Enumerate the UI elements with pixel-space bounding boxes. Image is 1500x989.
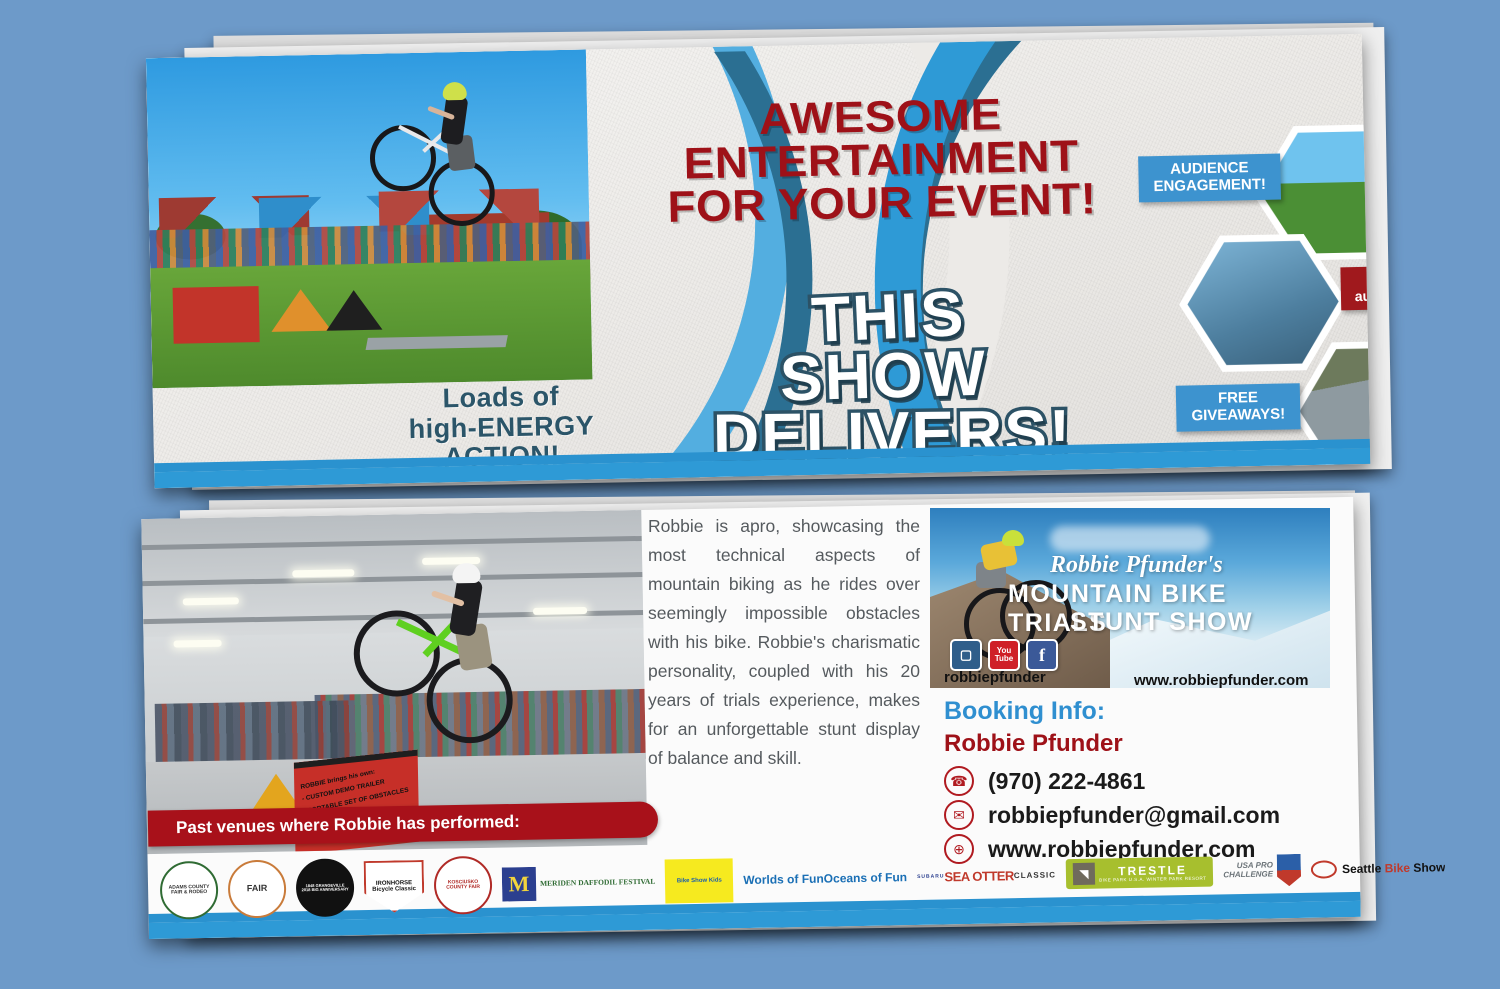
logo-meriden-daffodil-festival: M MERIDEN DAFFODIL FESTIVAL — [502, 865, 656, 902]
usa-pro-line-2: CHALLENGE — [1223, 870, 1273, 880]
logo-trestle-bike-park: ◥ TRESTLE BIKE PARK U.S.A. WINTER PARK R… — [1066, 857, 1214, 890]
booking-email: robbiepfunder@gmail.com — [988, 802, 1280, 829]
trestle-mark-icon: ◥ — [1073, 863, 1095, 885]
banner-script-name: Robbie Pfunder's — [1050, 552, 1223, 579]
social-icons[interactable]: ▢ YouTube f — [950, 639, 1058, 671]
logo-anniversary: 1848 GRANGEVILLE 2018 BIG ANNIVERSARY — [296, 858, 355, 917]
logo-sea-otter-classic: SUBARU SEA OTTER CLASSIC — [917, 867, 1056, 885]
facebook-icon[interactable]: f — [1026, 639, 1058, 671]
tagline-line-2: high-ENERGY — [381, 411, 622, 445]
email-icon: ✉ — [944, 800, 974, 830]
headline-line-3: FOR YOUR EVENT! — [637, 177, 1127, 230]
banner-website-url: www.robbiepfunder.com — [1134, 672, 1308, 689]
badge-meet-greet: Meet n' greet autograph session — [1340, 264, 1370, 310]
phone-icon: ☎ — [944, 766, 974, 796]
top-card-stack: AWESOME ENTERTAINMENT FOR YOUR EVENT! TH… — [124, 11, 1399, 496]
show-label: Show — [1410, 860, 1446, 875]
badge-free-giveaways: FREE GIVEAWAYS! — [1176, 383, 1301, 431]
subaru-label: SUBARU — [917, 873, 944, 880]
top-card-front: AWESOME ENTERTAINMENT FOR YOUR EVENT! TH… — [146, 34, 1370, 488]
logo-worlds-of-fun: Worlds of Fun Oceans of Fun — [743, 871, 907, 887]
bike-wheel-icon — [1311, 860, 1337, 878]
badge-audience-engagement: AUDIENCE ENGAGEMENT! — [1138, 154, 1281, 202]
youtube-icon[interactable]: YouTube — [988, 639, 1020, 671]
seattle-label: Seattle — [1342, 861, 1385, 876]
sea-otter-label: SEA OTTER — [944, 868, 1014, 884]
social-handle: robbiepfunder — [944, 669, 1046, 686]
logo-fair: FAIR — [228, 860, 287, 919]
booking-contact-name: Robbie Pfunder — [944, 730, 1123, 758]
classic-label: CLASSIC — [1014, 870, 1056, 880]
meriden-label: MERIDEN DAFFODIL FESTIVAL — [540, 877, 655, 889]
booking-phone-row[interactable]: ☎ (970) 222-4861 — [944, 766, 1145, 796]
body-copy: Robbie is apro, showcasing the most tech… — [648, 512, 920, 773]
logo-kids-show: Bike Show Kids — [665, 858, 734, 903]
booking-phone: (970) 222-4861 — [988, 768, 1145, 795]
worlds-of-fun-line-1: Worlds of Fun — [743, 872, 824, 886]
booking-info-title: Booking Info: — [944, 697, 1105, 726]
grunge-title: THIS SHOW DELIVERS! — [663, 283, 1116, 469]
logo-adams-county-fair: ADAMS COUNTY FAIR & RODEO — [160, 861, 219, 920]
headline: AWESOME ENTERTAINMENT FOR YOUR EVENT! — [645, 91, 1118, 230]
logo-seattle-bike-show: Seattle Bike Show — [1311, 858, 1446, 878]
oceans-of-fun-line-2: Oceans of Fun — [824, 871, 908, 885]
mockup-stage: AWESOME ENTERTAINMENT FOR YOUR EVENT! TH… — [0, 0, 1500, 989]
banner-line-2: STUNT SHOW — [1070, 608, 1253, 637]
rider-silhouette-indoor — [352, 564, 535, 747]
booking-email-row[interactable]: ✉ robbiepfunder@gmail.com — [944, 800, 1280, 830]
trestle-sub: BIKE PARK U.S.A. WINTER PARK RESORT — [1099, 875, 1206, 882]
bike-label: Bike — [1385, 861, 1411, 875]
usa-pro-shield-icon — [1277, 854, 1302, 886]
logo-usa-pro-challenge: USA PRO CHALLENGE — [1223, 854, 1301, 887]
past-venues-label: Past venues where Robbie has performed: — [176, 812, 520, 838]
meriden-m-mark: M — [502, 867, 537, 902]
logo-ironhorse: IRONHORSE Bicycle Classic — [364, 860, 425, 913]
logo-kosciusko-fair: KOSCIUSKO COUNTY FAIR — [434, 856, 493, 915]
instagram-icon[interactable]: ▢ — [950, 639, 982, 671]
